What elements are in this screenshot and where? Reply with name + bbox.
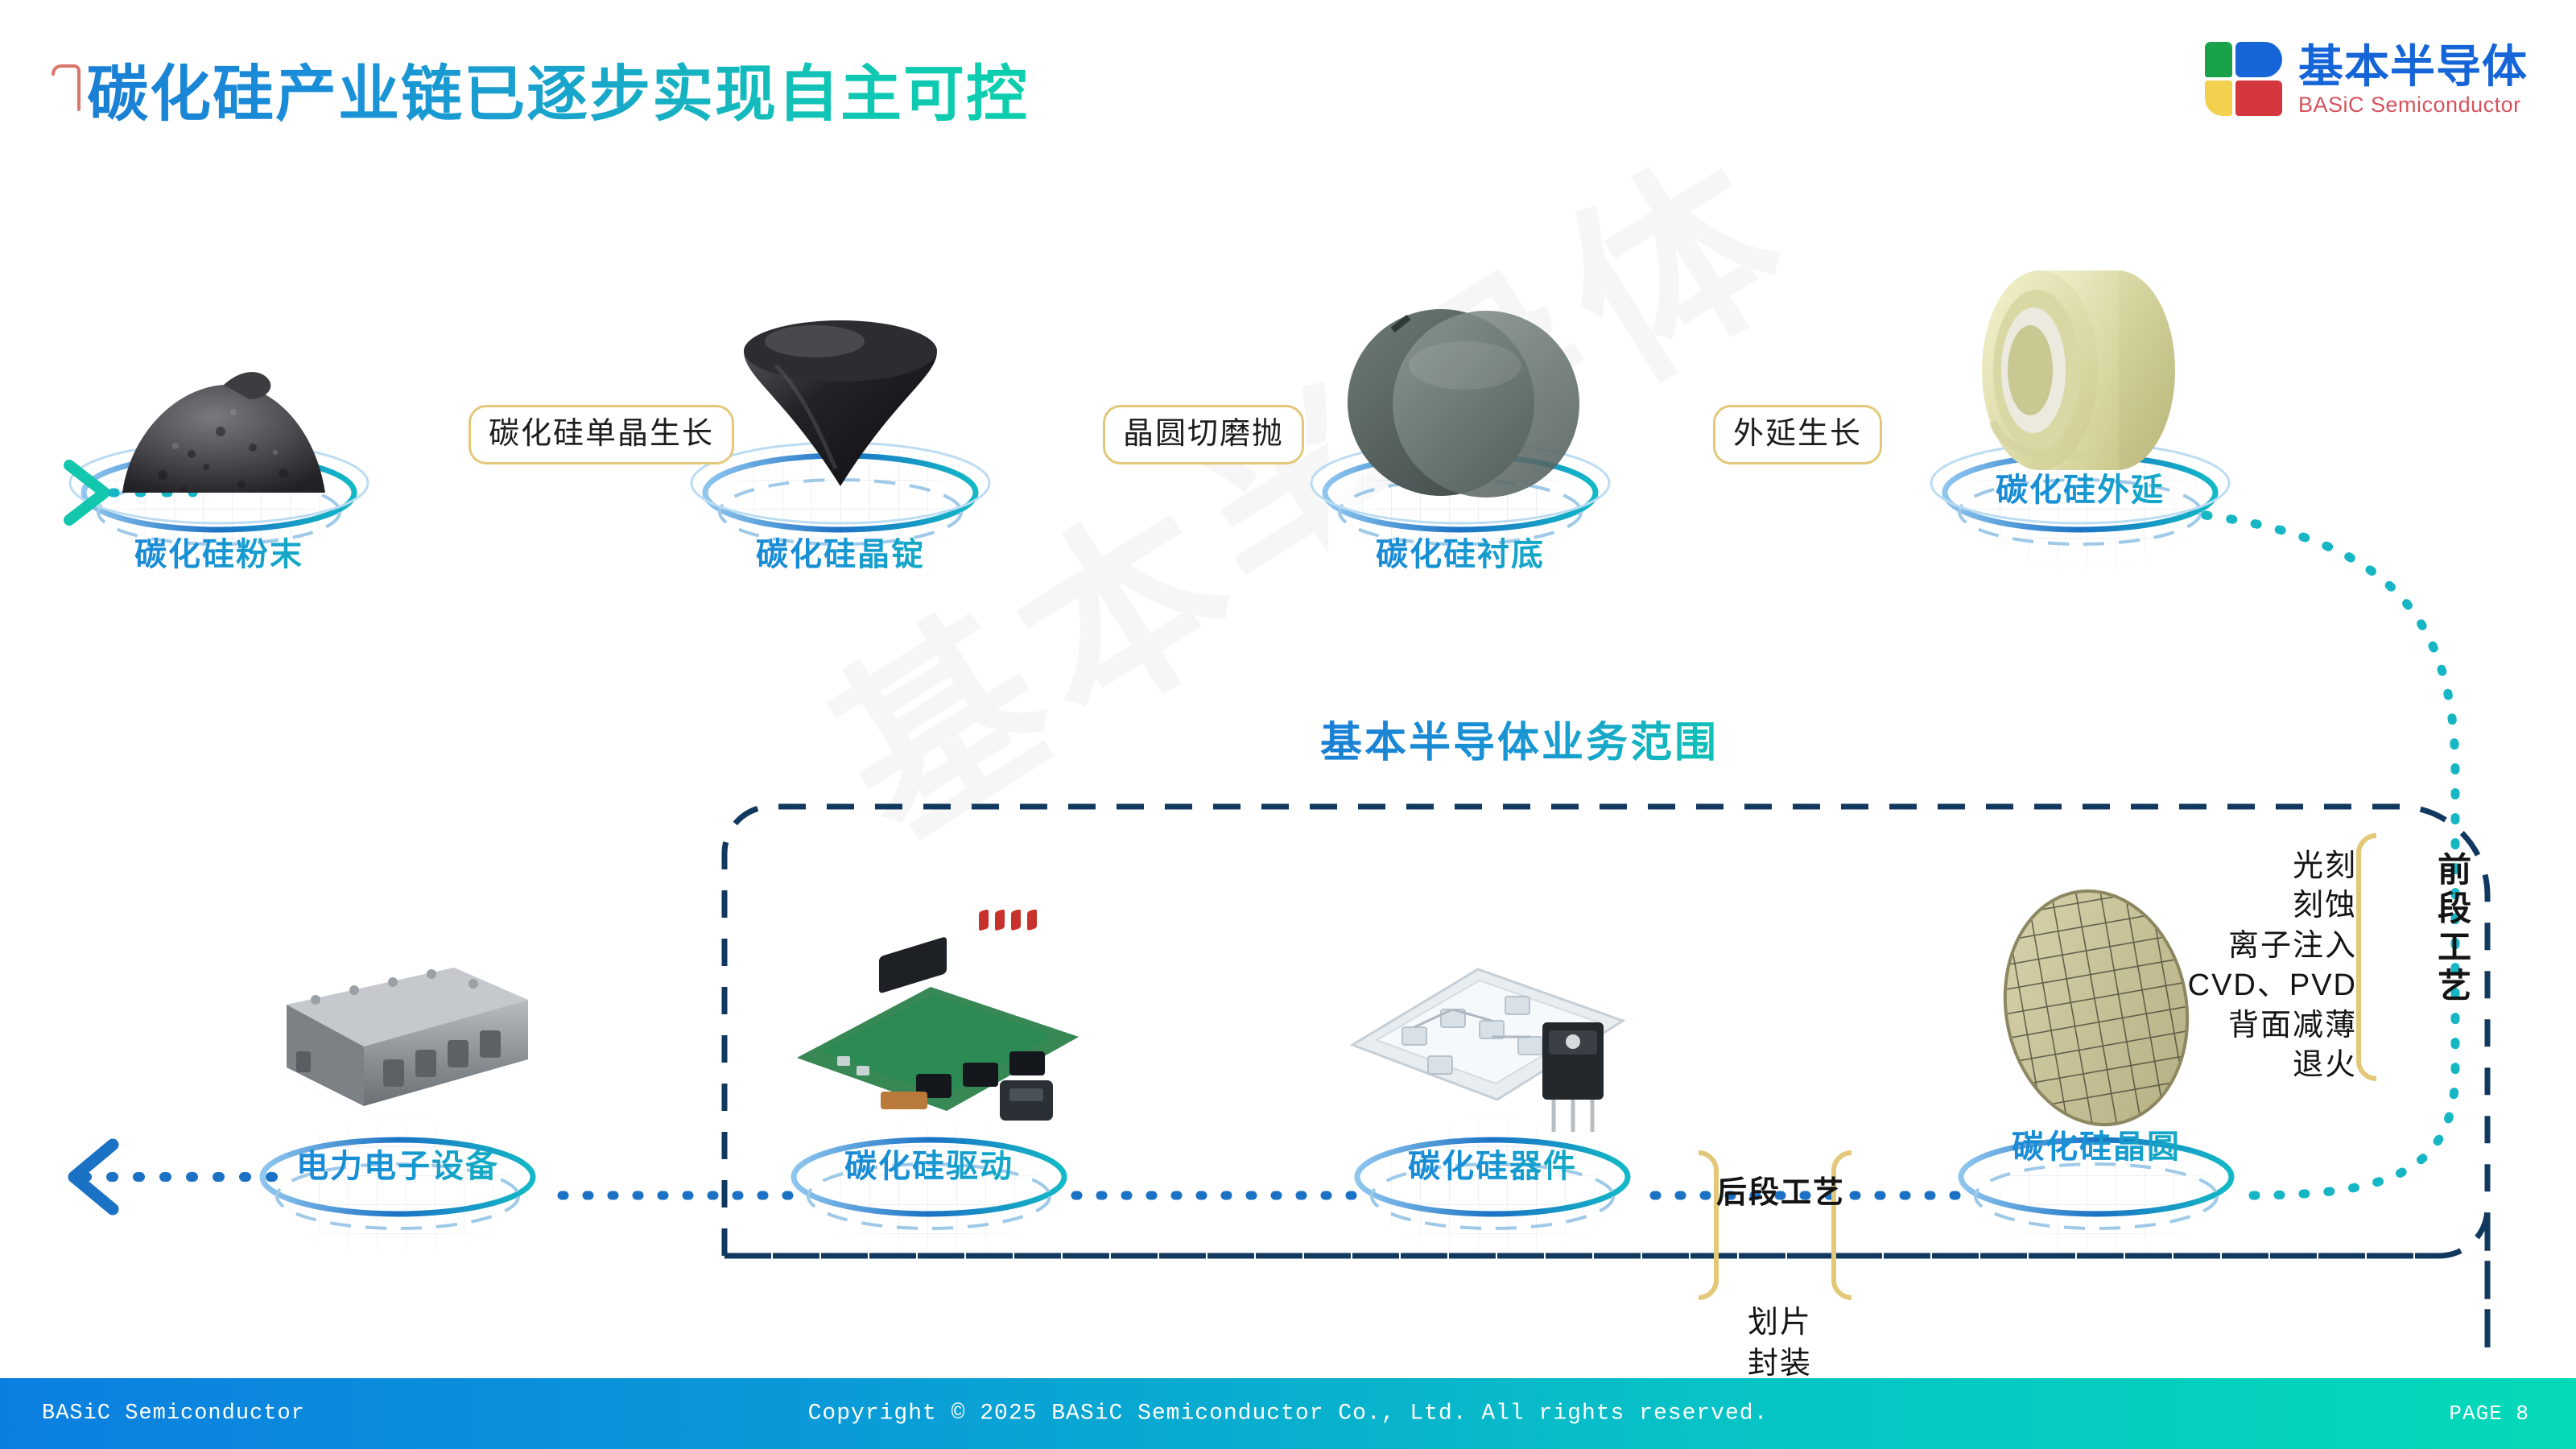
process-chip-single-crystal-growth: 碳化硅单晶生长: [469, 405, 734, 464]
sic-epitaxy-wafer-stack-art: [1895, 250, 2265, 491]
logo-mark-icon: [2205, 42, 2282, 119]
logo-name-en: BASiC Semiconductor: [2298, 93, 2528, 118]
slide-header: 碳化硅产业链已逐步实现自主可控 基本半导体 BASiC Semiconducto…: [0, 0, 2576, 161]
company-logo: 基本半导体 BASiC Semiconductor: [2205, 42, 2528, 119]
flow-node-power-equipment[interactable]: 电力电子设备: [213, 910, 583, 1187]
logo-block-blue: [2235, 42, 2282, 77]
flow-node-label: 碳化硅器件: [1307, 1140, 1678, 1187]
process-chip-epitaxial-growth: 外延生长: [1713, 405, 1882, 464]
sic-driver-board-art: [744, 910, 1114, 1135]
footer-brand: BASiC Semiconductor: [42, 1402, 305, 1426]
flow-node-sic-substrate[interactable]: 碳化硅衬底: [1275, 282, 1645, 575]
front-end-step: 退火: [2157, 1046, 2357, 1085]
front-end-step: CVD、PVD: [2157, 966, 2357, 1005]
footer-copyright: Copyright © 2025 BASiC Semiconductor Co.…: [808, 1402, 1769, 1426]
flow-node-label: 电力电子设备: [213, 1140, 583, 1187]
sic-power-module-art: [1307, 910, 1678, 1135]
flow-node-sic-driver[interactable]: 碳化硅驱动: [744, 910, 1114, 1187]
corner-bracket-icon: [50, 63, 82, 113]
front-end-step: 离子注入: [2157, 927, 2357, 966]
flow-node-label: 碳化硅驱动: [744, 1140, 1114, 1187]
flow-node-label: 碳化硅衬底: [1275, 528, 1645, 575]
front-end-bracket: [2359, 836, 2376, 1079]
front-end-step: 背面减薄: [2157, 1006, 2357, 1046]
back-end-label: 后段工艺: [1716, 1174, 1845, 1213]
front-end-step: 刻蚀: [2157, 886, 2357, 926]
logo-block-yellow: [2205, 80, 2232, 116]
business-scope-title: 基本半导体业务范围: [1320, 708, 1719, 769]
footer-page-number: PAGE 8: [2449, 1402, 2529, 1426]
front-end-steps: 光刻 刻蚀 离子注入 CVD、PVD 背面减薄 退火: [2157, 847, 2357, 1085]
back-end-step-group: 划片 封装: [1732, 1302, 1827, 1385]
power-electronics-box-art: [213, 910, 583, 1135]
flow-node-label: 碳化硅粉末: [34, 528, 404, 575]
logo-block-green: [2205, 42, 2232, 77]
front-end-step: 光刻: [2157, 847, 2357, 886]
sic-substrate-disc-art: [1275, 282, 1645, 523]
logo-block-red: [2235, 80, 2282, 116]
process-chip-wafer-cut-grind-polish: 晶圆切磨抛: [1103, 405, 1304, 464]
flow-node-sic-device[interactable]: 碳化硅器件: [1307, 910, 1678, 1187]
sic-powder-pile-art: [34, 282, 404, 523]
back-end-step: 划片: [1732, 1302, 1827, 1344]
flow-node-sic-powder[interactable]: 碳化硅粉末: [34, 282, 404, 575]
sic-ingot-boule-art: [655, 282, 1026, 523]
flow-node-label: 碳化硅晶锭: [655, 528, 1026, 575]
page-title: 碳化硅产业链已逐步实现自主可控: [87, 44, 1029, 133]
flow-node-sic-epitaxy[interactable]: 碳化硅外延: [1895, 250, 2265, 510]
diagram-canvas: 基本半导体: [0, 161, 2576, 1352]
slide-footer: BASiC Semiconductor Copyright © 2025 BAS…: [0, 1378, 2576, 1449]
logo-name-cn: 基本半导体: [2298, 43, 2528, 91]
front-end-vertical-label: 前段工艺: [2429, 852, 2474, 1006]
back-end-bracket-left: [1699, 1153, 1716, 1298]
